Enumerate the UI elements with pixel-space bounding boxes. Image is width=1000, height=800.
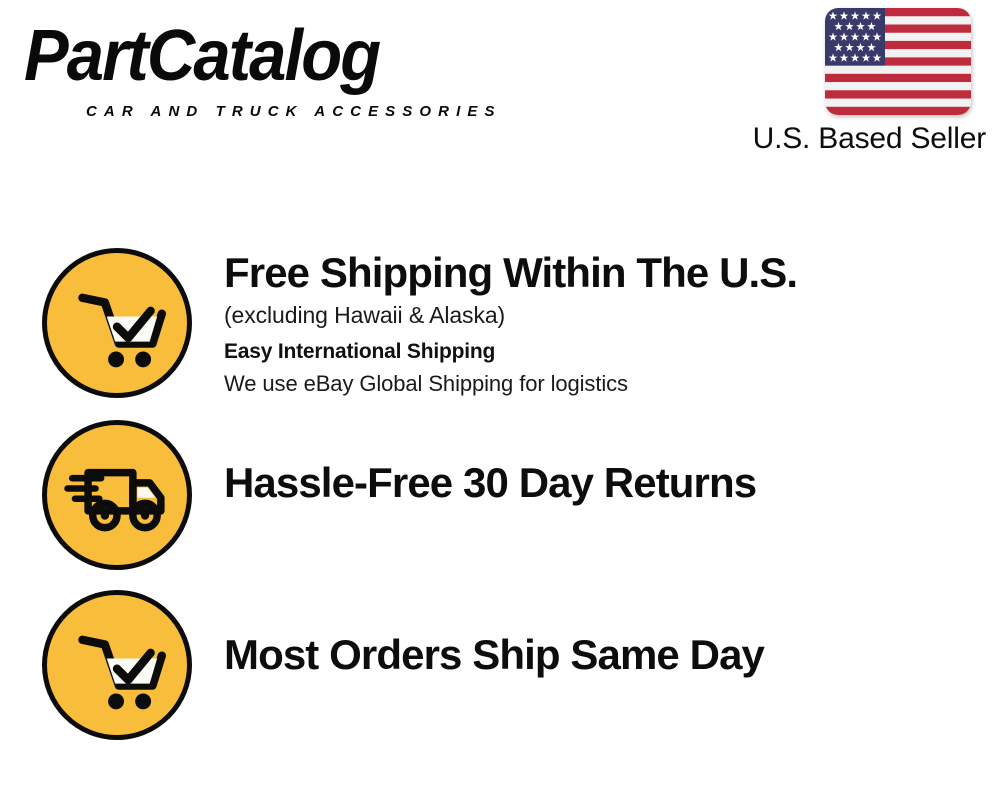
page-header: PartCatalog CAR AND TRUCK ACCESSORIES [0,0,1000,170]
shopping-cart-check-icon [42,248,192,398]
feature-title: Hassle-Free 30 Day Returns [224,458,964,508]
feature-list: Free Shipping Within The U.S. (excluding… [0,236,1000,756]
shopping-cart-check-icon [42,590,192,740]
feature-text-block: Free Shipping Within The U.S. (excluding… [224,248,964,400]
feature-text-block: Most Orders Ship Same Day [224,630,964,680]
feature-secondary-body: We use eBay Global Shipping for logistic… [224,368,964,400]
seller-label: U.S. Based Seller [753,121,986,157]
feature-secondary-title: Easy International Shipping [224,336,964,368]
delivery-truck-icon [42,420,192,570]
feature-title: Free Shipping Within The U.S. [224,248,964,298]
us-flag-icon [825,8,971,115]
feature-subtitle: (excluding Hawaii & Alaska) [224,298,964,332]
feature-text-block: Hassle-Free 30 Day Returns [224,458,964,508]
brand-logo[interactable]: PartCatalog CAR AND TRUCK ACCESSORIES [24,18,494,118]
brand-wordmark: PartCatalog [24,18,379,94]
us-based-seller-badge: U.S. Based Seller [711,8,986,158]
brand-tagline: CAR AND TRUCK ACCESSORIES [86,104,502,120]
feature-title: Most Orders Ship Same Day [224,630,964,680]
